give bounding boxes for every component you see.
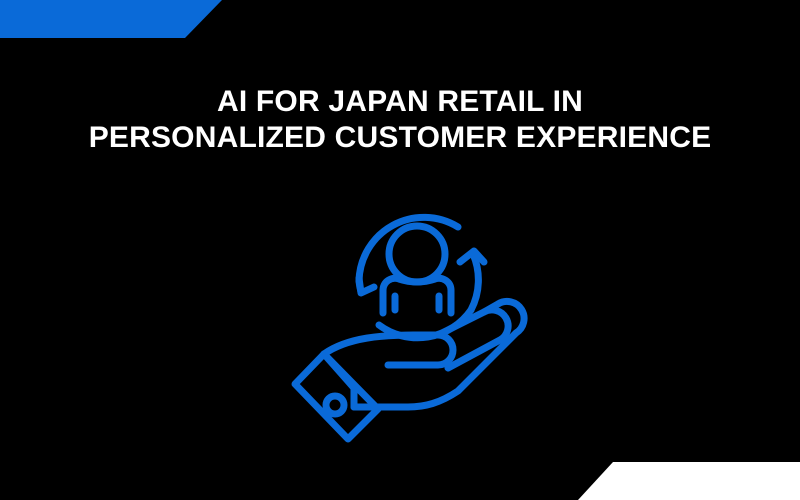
- cuff-button: [326, 396, 344, 414]
- top-left-accent-polygon: [0, 0, 222, 38]
- top-left-accent-shape: [0, 0, 224, 38]
- refresh-arrow-head-down: [359, 278, 374, 293]
- avatar-head: [389, 226, 445, 282]
- hand-outer-contour: [354, 301, 524, 407]
- promo-banner: AI FOR JAPAN RETAIL IN PERSONALIZED CUST…: [0, 0, 800, 500]
- bottom-right-accent-shape: [576, 460, 800, 500]
- hand-index-finger: [324, 335, 453, 365]
- refresh-arc-right: [471, 254, 478, 310]
- banner-title-line-1: AI FOR JAPAN RETAIL IN: [0, 84, 800, 120]
- hand-holding-customer-experience-icon: [262, 192, 550, 450]
- banner-title: AI FOR JAPAN RETAIL IN PERSONALIZED CUST…: [0, 84, 800, 156]
- bottom-right-accent-polygon: [578, 462, 800, 500]
- banner-title-line-2: PERSONALIZED CUSTOMER EXPERIENCE: [0, 120, 800, 156]
